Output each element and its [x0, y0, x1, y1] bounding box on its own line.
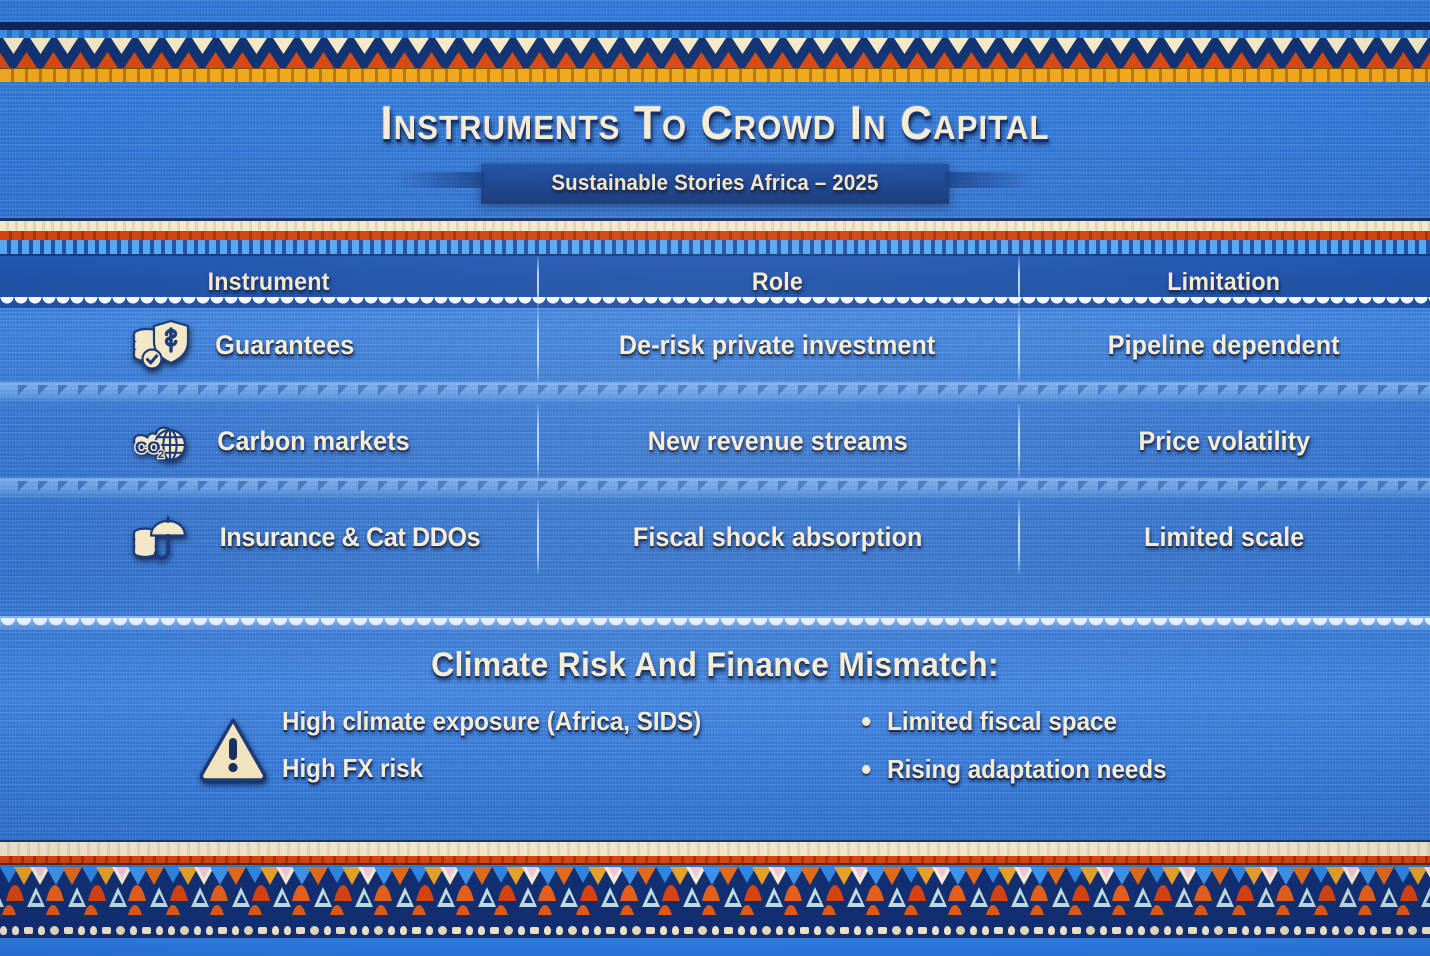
bottom-orange-band [0, 856, 1430, 865]
list-item: High climate exposure (Africa, SIDS) [282, 698, 821, 745]
top-sky-dash-line [0, 30, 1430, 38]
instruments-table: Instrument Role Limitation [0, 256, 1430, 586]
bottom-chevron-pattern [0, 867, 1430, 922]
list-item: Rising adaptation needs [862, 746, 1262, 793]
mismatch-right-column: Limited fiscal space Rising adaptation n… [862, 698, 1292, 793]
table-header-row: Instrument Role Limitation [0, 256, 1430, 308]
infographic-poster: Instruments To Crowd In Capital Sustaina… [0, 0, 1430, 956]
mid-kente-divider [0, 218, 1430, 256]
row-column-divider-2 [1018, 500, 1020, 574]
cell-limitation-label: Limited scale [1144, 522, 1304, 553]
warning-triangle-icon [198, 712, 268, 786]
list-item: High FX risk [282, 745, 821, 792]
mismatch-right-item-0-label: Limited fiscal space [887, 706, 1117, 737]
bottom-dot-row [0, 922, 1430, 938]
co2-globe-icon: CO CO 2 2 [130, 413, 194, 469]
row-column-divider-1 [537, 500, 539, 574]
cell-instrument-label: Insurance & Cat DDOs [220, 522, 480, 553]
cell-instrument: Insurance & Cat DDOs [0, 500, 537, 574]
column-header-instrument-label: Instrument [207, 268, 329, 297]
cell-limitation-label: Price volatility [1138, 426, 1310, 457]
column-header-limitation-label: Limitation [1168, 268, 1281, 297]
hero-section: Instruments To Crowd In Capital Sustaina… [0, 84, 1430, 218]
row-column-divider-2 [1018, 308, 1020, 382]
cell-limitation-label: Pipeline dependent [1108, 330, 1340, 361]
cell-instrument-label: Guarantees [215, 330, 354, 361]
cell-role: De-risk private investment [537, 308, 1018, 382]
shield-dollar-coins-icon [130, 317, 194, 373]
cell-limitation: Limited scale [1018, 500, 1430, 574]
coins-umbrella-icon [130, 509, 194, 565]
page-subtitle: Sustainable Stories Africa – 2025 [551, 170, 878, 196]
mismatch-title: Climate Risk And Finance Mismatch: [43, 646, 1387, 685]
mismatch-columns: High climate exposure (Africa, SIDS) Hig… [268, 698, 1430, 793]
bottom-kente-border [0, 840, 1430, 956]
bullet-icon [862, 765, 870, 774]
cell-instrument: CO CO 2 2 Carbon markets [0, 404, 537, 478]
table-row: CO CO 2 2 Carbon markets New revenue str… [0, 404, 1430, 478]
top-orange-triangles-icon [0, 51, 1430, 68]
top-triangle-row [0, 38, 1430, 68]
mismatch-right-item-1-label: Rising adaptation needs [887, 754, 1166, 785]
cell-instrument: Guarantees [0, 308, 537, 382]
bullet-icon [862, 717, 870, 726]
page-title: Instruments To Crowd In Capital [380, 98, 1049, 147]
row-separator [0, 382, 1430, 404]
svg-text:2: 2 [158, 449, 164, 461]
cell-limitation: Price volatility [1018, 404, 1430, 478]
row-column-divider-2 [1018, 404, 1020, 478]
climate-risk-section: Climate Risk And Finance Mismatch: High … [0, 586, 1430, 840]
row-separator [0, 478, 1430, 500]
cell-limitation: Pipeline dependent [1018, 308, 1430, 382]
mismatch-body: High climate exposure (Africa, SIDS) Hig… [0, 698, 1430, 793]
svg-text:CO: CO [135, 438, 161, 457]
column-header-role-label: Role [752, 268, 803, 297]
mismatch-left-column: High climate exposure (Africa, SIDS) Hig… [282, 698, 862, 793]
cell-instrument-label: Carbon markets [217, 426, 409, 457]
mid-orange-band [0, 231, 1430, 240]
top-navy-line [0, 22, 1430, 30]
bottom-blue-foot [0, 938, 1430, 956]
mismatch-left-item-0-label: High climate exposure (Africa, SIDS) [282, 706, 701, 737]
cell-role: Fiscal shock absorption [537, 500, 1018, 574]
mid-blue-dash-band [0, 240, 1430, 254]
bottom-cream-band [0, 840, 1430, 856]
cell-role-label: New revenue streams [648, 426, 908, 457]
cell-role: New revenue streams [537, 404, 1018, 478]
mismatch-top-scallop-divider [0, 616, 1430, 630]
row-column-divider-1 [537, 308, 539, 382]
mid-cream-band [0, 221, 1430, 231]
list-item: Limited fiscal space [862, 698, 1262, 745]
top-gold-dash-band [0, 68, 1430, 82]
cell-role-label: De-risk private investment [619, 330, 935, 361]
cell-role-label: Fiscal shock absorption [633, 522, 923, 553]
subtitle-plaque: Sustainable Stories Africa – 2025 [481, 164, 949, 204]
bottom-kente-chevrons-icon [0, 867, 1430, 922]
mismatch-left-item-1-label: High FX risk [282, 753, 423, 784]
row-column-divider-1 [537, 404, 539, 478]
top-kente-border [0, 0, 1430, 84]
table-row: Insurance & Cat DDOs Fiscal shock absorp… [0, 500, 1430, 574]
table-row: Guarantees De-risk private investment Pi… [0, 308, 1430, 382]
